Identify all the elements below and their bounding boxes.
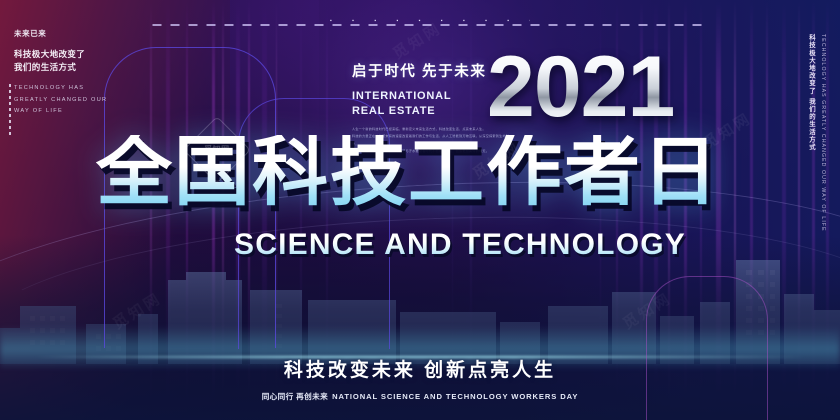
corner-left-cn: 科技极大地改变了 我们的生活方式 xyxy=(14,48,134,74)
main-headline: 全国科技工作者日 xyxy=(96,135,746,211)
corner-right-text: 科技极大地改变了 我们的生活方式 TECHNOLOGY HAS GREATLY … xyxy=(807,34,826,184)
corner-right-cn: 科技极大地改变了 我们的生活方式 xyxy=(807,34,816,184)
bottom-slogan: 科技改变未来 创新点亮人生 xyxy=(0,355,840,382)
bottom-subline-en: NATIONAL SCIENCE AND TECHNOLOGY WORKERS … xyxy=(332,392,578,401)
bottom-text-block: 科技改变未来 创新点亮人生 同心同行 再创未来NATIONAL SCIENCE … xyxy=(0,355,840,402)
corner-left-text: 未来已来 科技极大地改变了 我们的生活方式 TECHNOLOGY HAS GRE… xyxy=(14,28,134,117)
corner-left-dashed-rule xyxy=(9,84,11,136)
poster-canvas: ▪ ▪ ▪ ▪ ▪ ▪ ▪ ▪ ▪ ▪ ▪ ▪ ▪ ▪ 未来已来 科技极大地改变… xyxy=(0,0,840,420)
corner-left-cn-line2: 我们的生活方式 xyxy=(14,61,134,74)
corner-right-en: TECHNOLOGY HAS GREATLY CHANGED OUR WAY O… xyxy=(820,34,826,184)
corner-left-cn-line1: 科技极大地改变了 xyxy=(14,48,134,61)
top-rule-glyphs: ▪ ▪ ▪ ▪ ▪ ▪ ▪ ▪ ▪ ▪ ▪ ▪ ▪ ▪ xyxy=(330,16,530,26)
corner-left-en-line3: WAY OF LIFE xyxy=(14,106,134,117)
corner-left-en: TECHNOLOGY HAS GREATLY CHANGED OUR WAY O… xyxy=(14,83,134,117)
corner-left-title: 未来已来 xyxy=(14,28,134,39)
year-2021: 2021 xyxy=(487,44,674,130)
english-subtitle: SCIENCE AND TECHNOLOGY xyxy=(200,228,720,262)
bottom-subline: 同心同行 再创未来NATIONAL SCIENCE AND TECHNOLOGY… xyxy=(0,391,840,402)
corner-left-en-line1: TECHNOLOGY HAS xyxy=(14,83,134,94)
bottom-subline-cn: 同心同行 再创未来 xyxy=(262,392,328,401)
corner-left-en-line2: GREATLY CHANGED OUR xyxy=(14,95,134,106)
